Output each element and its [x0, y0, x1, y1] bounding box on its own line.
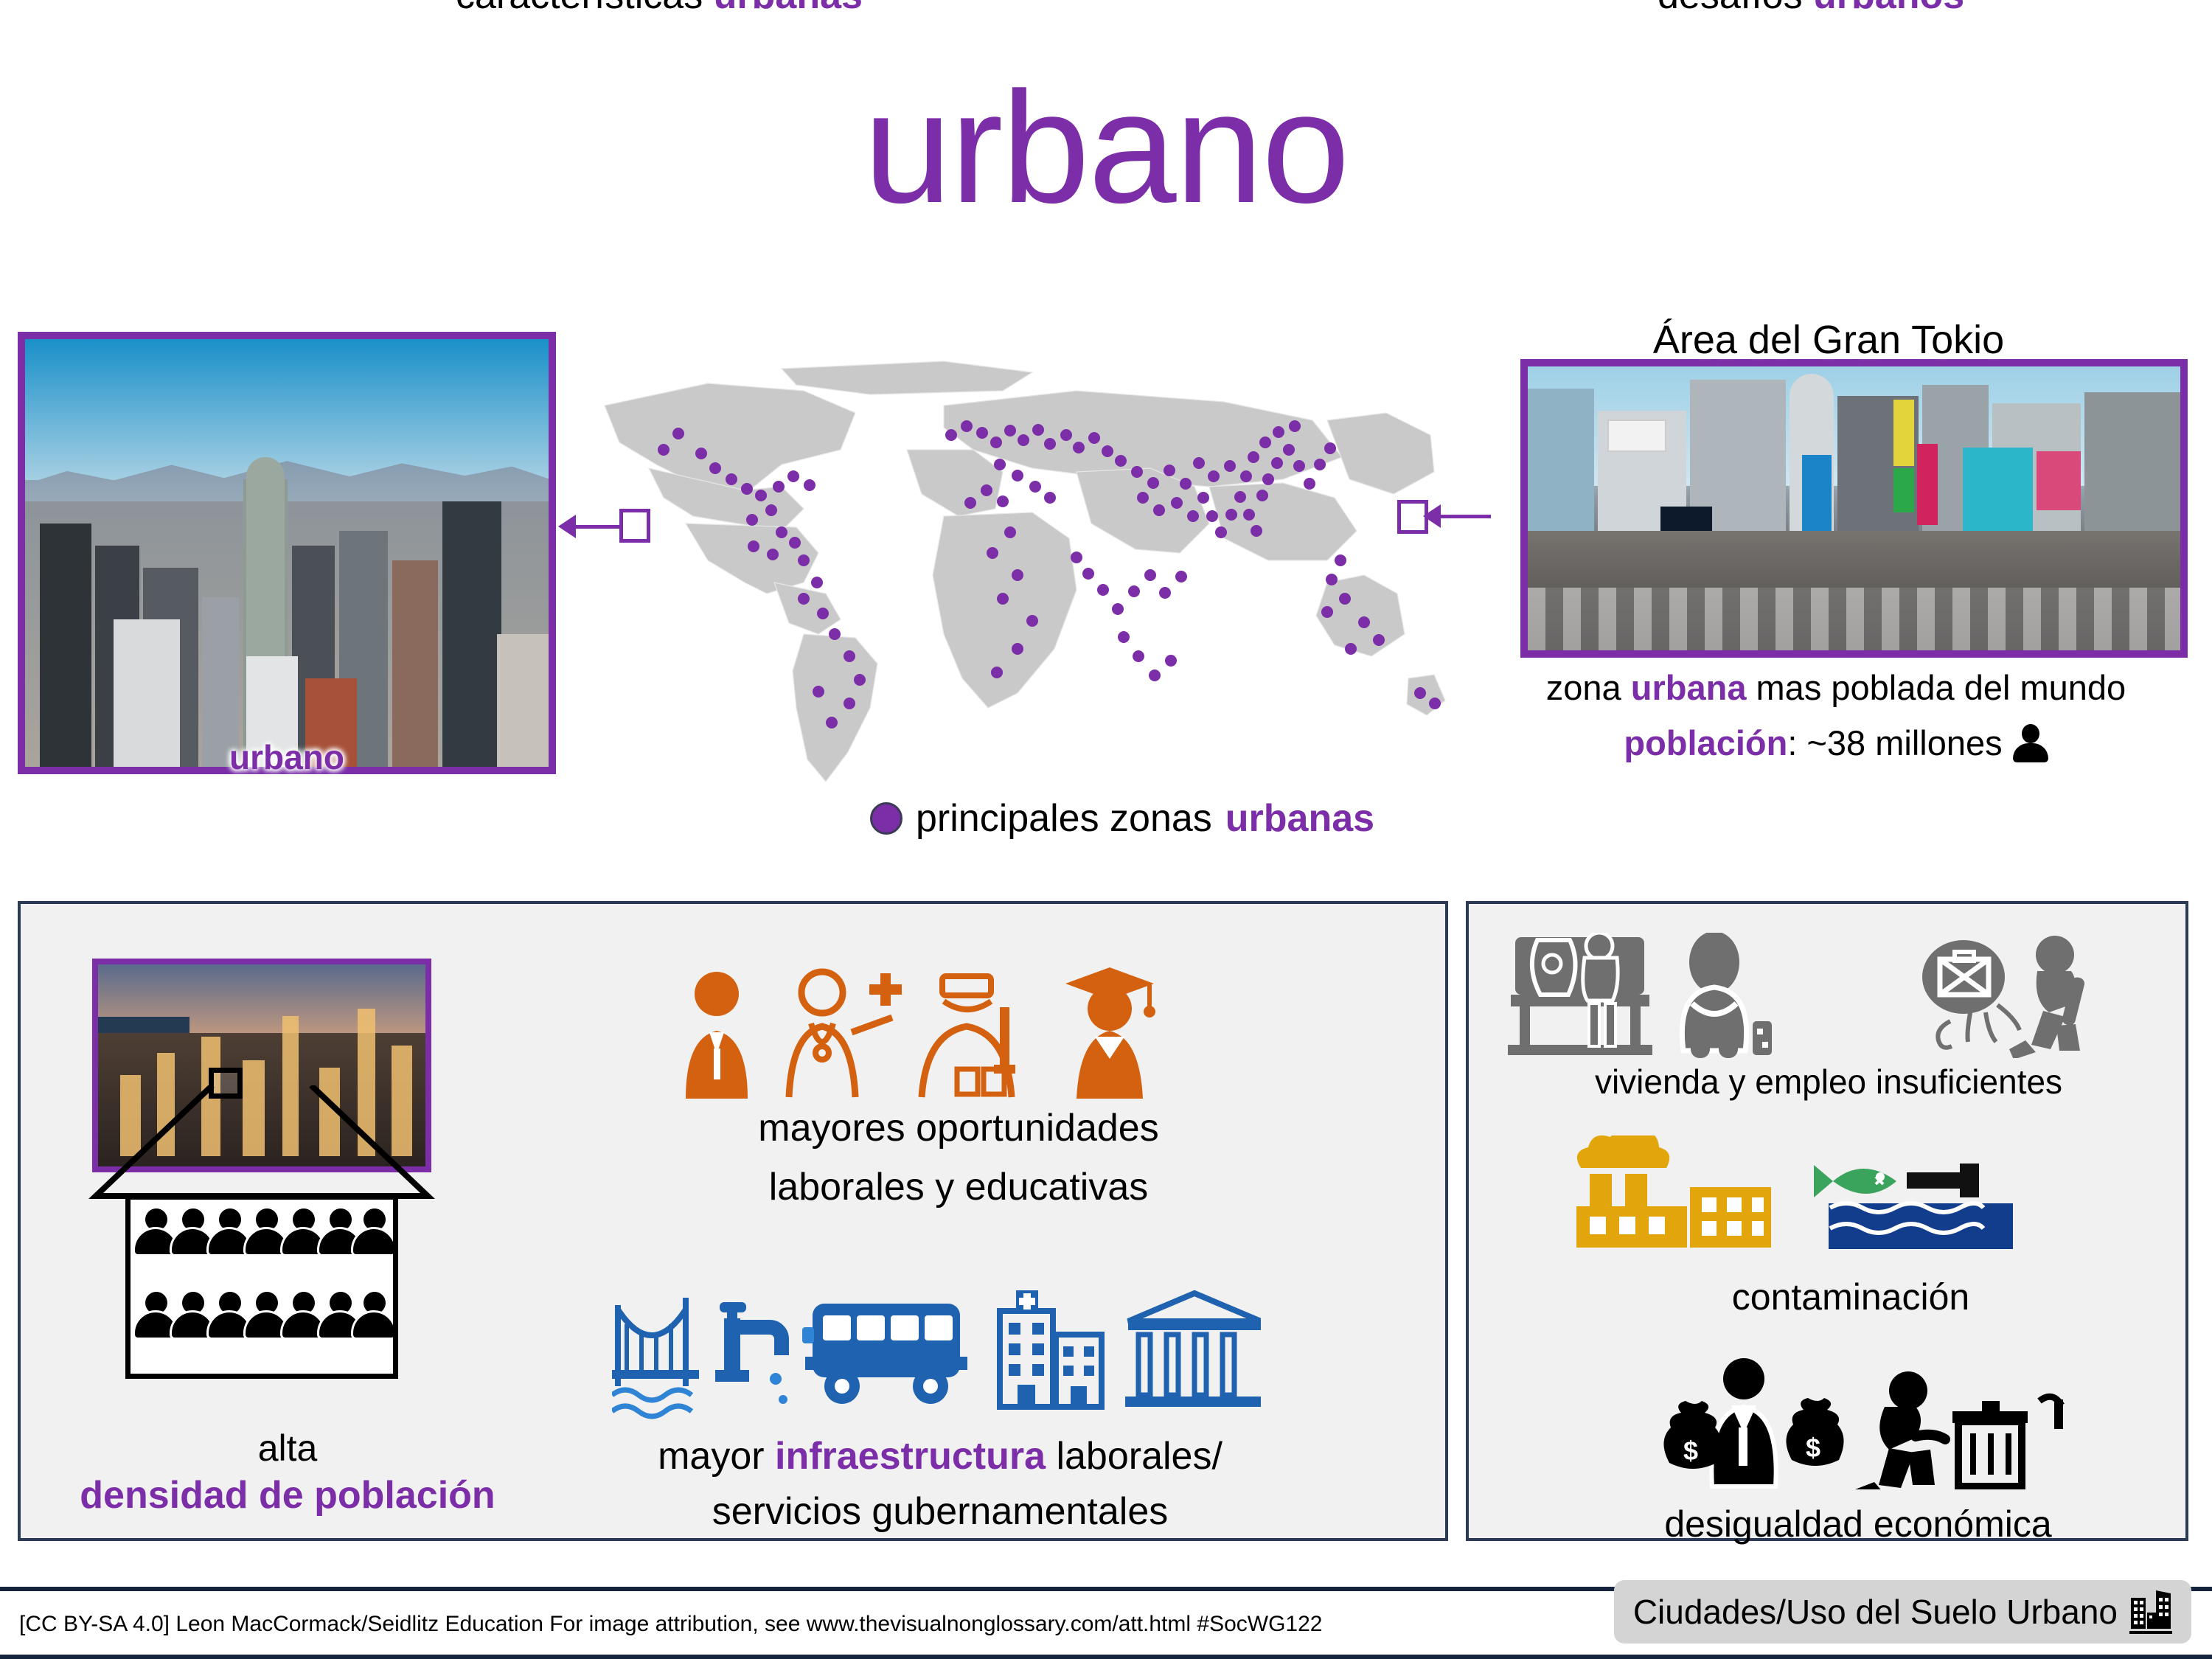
lab-technician-icon	[922, 976, 1015, 1097]
tokyo-cap1-c: mas poblada del mundo	[1746, 668, 2126, 707]
map-callout-los-angeles	[619, 509, 650, 543]
pollution-icons	[1571, 1135, 2087, 1261]
page-title: urbano	[0, 68, 2212, 226]
housing-employment-icons	[1508, 933, 2157, 1058]
people-row	[135, 1292, 398, 1339]
pr-title-accent: urbanos	[1813, 0, 1964, 17]
map-arrow-right-head	[1423, 504, 1441, 528]
los-angeles-photo	[18, 332, 556, 774]
topic-badge: Ciudades/Uso del Suelo Urbano	[1614, 1580, 2191, 1644]
landmasses	[605, 361, 1445, 782]
svg-text:$: $	[1806, 1433, 1820, 1463]
infrastructure-icons	[612, 1283, 1261, 1423]
billboard	[1963, 448, 2033, 532]
pl-title-plain: características	[456, 0, 714, 17]
sitting-person-icon	[1682, 933, 1772, 1058]
infra-cap-a: mayor	[658, 1435, 775, 1478]
opportunities-caption-2: laborales y educativas	[627, 1165, 1290, 1209]
infrastructure-caption-1: mayor infraestructura laborales/	[560, 1434, 1320, 1478]
challenge-caption-1: vivienda y empleo insuficientes	[1482, 1062, 2175, 1102]
map-legend: principales zonas urbanas	[870, 796, 1578, 841]
hospital-icon	[1000, 1290, 1102, 1407]
legend-dot-icon	[870, 802, 902, 835]
rich-person-money-bags-icon: $ $	[1663, 1358, 1843, 1486]
economic-inequality-icons: $ $	[1600, 1357, 2087, 1489]
topic-label: Ciudades/Uso del Suelo Urbano	[1633, 1592, 2118, 1632]
building	[392, 560, 438, 767]
billboard	[1607, 420, 1666, 452]
infra-cap-b: infraestructura	[775, 1435, 1046, 1478]
bridge-icon	[612, 1298, 699, 1416]
density-caption-1: alta	[29, 1427, 546, 1470]
tokyo-cap2-b: : ~38 millones	[1787, 723, 2002, 762]
map-arrow-right-line	[1433, 515, 1491, 518]
billboard	[1893, 468, 1914, 512]
tokyo-cap1-b: urbana	[1631, 668, 1747, 707]
government-building-icon	[1125, 1293, 1261, 1407]
job-rejection-icon	[1922, 936, 2086, 1058]
city-buildings-icon	[2129, 1589, 2172, 1635]
pl-title-accent: urbanas	[714, 0, 863, 17]
svg-text:$: $	[1683, 1436, 1698, 1466]
billboard	[1917, 444, 1938, 525]
tokyo-photo	[1520, 359, 2188, 658]
world-map	[560, 339, 1482, 811]
bus-icon	[802, 1304, 967, 1404]
businessman-icon	[686, 972, 748, 1099]
tokyo-title: Área del Gran Tokio	[1460, 317, 2197, 363]
tokyo-cap2-a: población	[1624, 723, 1787, 762]
homeless-bench-icon	[1508, 933, 1652, 1055]
people-row	[135, 1208, 398, 1256]
photo-sky	[25, 339, 549, 480]
tokyo-caption-1: zona urbana mas poblada del mundo	[1467, 667, 2205, 708]
billboard	[1893, 400, 1914, 466]
doctor-icon	[789, 972, 902, 1097]
infrastructure-caption-2: servicios gubernamentales	[560, 1489, 1320, 1534]
urban-characteristics-title: características urbanas	[442, 0, 876, 18]
factory-smoke-icon	[1576, 1135, 1771, 1248]
attribution-text: [CC BY-SA 4.0] Leon MacCormack/Seidlitz …	[19, 1612, 1494, 1637]
density-people-box	[125, 1194, 398, 1379]
crosswalk	[1528, 588, 2180, 650]
tokyo-cap1-a: zona	[1546, 668, 1631, 707]
world-map-svg	[560, 339, 1482, 811]
infra-cap-c: laborales/	[1046, 1435, 1222, 1478]
water-tap-icon	[715, 1302, 787, 1404]
water-pollution-fish-icon	[1814, 1164, 2013, 1249]
tokyo-caption-2: población: ~38 millones	[1467, 723, 2205, 763]
legend-label: principales zonas	[916, 796, 1212, 841]
challenge-caption-2: contaminación	[1571, 1276, 2131, 1318]
density-funnel	[88, 1085, 435, 1203]
urban-challenges-title: desafíos urbanos	[1644, 0, 1978, 18]
density-caption-2: densidad de población	[15, 1473, 560, 1517]
billboard	[2037, 451, 2081, 510]
opportunities-caption-1: mayores oportunidades	[627, 1106, 1290, 1150]
infographic-page: urbano urbano	[0, 0, 2212, 1659]
graduate-icon	[1065, 967, 1155, 1099]
los-angeles-caption: urbano	[18, 737, 556, 777]
building	[40, 524, 91, 767]
legend-label-accent: urbanas	[1225, 796, 1374, 841]
poor-person-trash-icon	[1855, 1371, 2063, 1489]
opportunity-icons	[664, 966, 1253, 1099]
person-icon	[2013, 724, 2048, 762]
challenge-caption-3: desigualdad económica	[1534, 1503, 2183, 1545]
map-arrow-left-head	[558, 515, 576, 538]
building	[442, 501, 501, 767]
pr-title-plain: desafíos	[1658, 0, 1813, 17]
